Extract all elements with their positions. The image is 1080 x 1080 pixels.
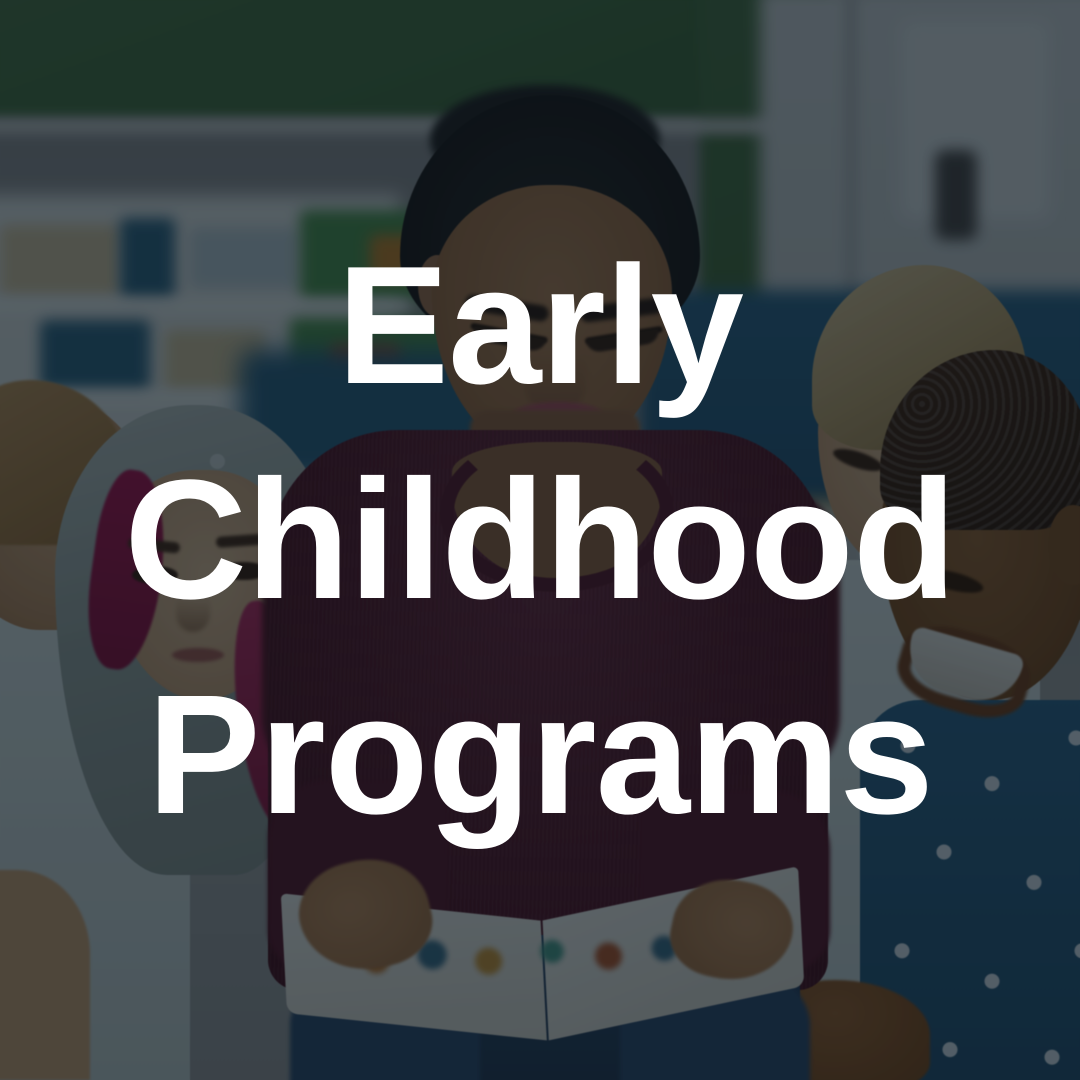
chalkboard-frame bbox=[0, 118, 840, 134]
shelf-item bbox=[40, 320, 150, 390]
shelf-item bbox=[190, 228, 300, 288]
child-girl-mouth bbox=[172, 648, 224, 662]
shelf-item bbox=[120, 218, 175, 298]
door-knob bbox=[935, 150, 977, 240]
shelf-item bbox=[0, 225, 120, 295]
background-photo bbox=[0, 0, 1080, 1080]
banner-canvas: Early Childhood Programs bbox=[0, 0, 1080, 1080]
teacher-collar bbox=[440, 432, 674, 592]
child-girl-eye-right bbox=[220, 562, 268, 580]
child-girl-eye-left bbox=[132, 566, 178, 584]
shelf-divider bbox=[0, 300, 410, 312]
child-girl-nose bbox=[176, 596, 210, 632]
